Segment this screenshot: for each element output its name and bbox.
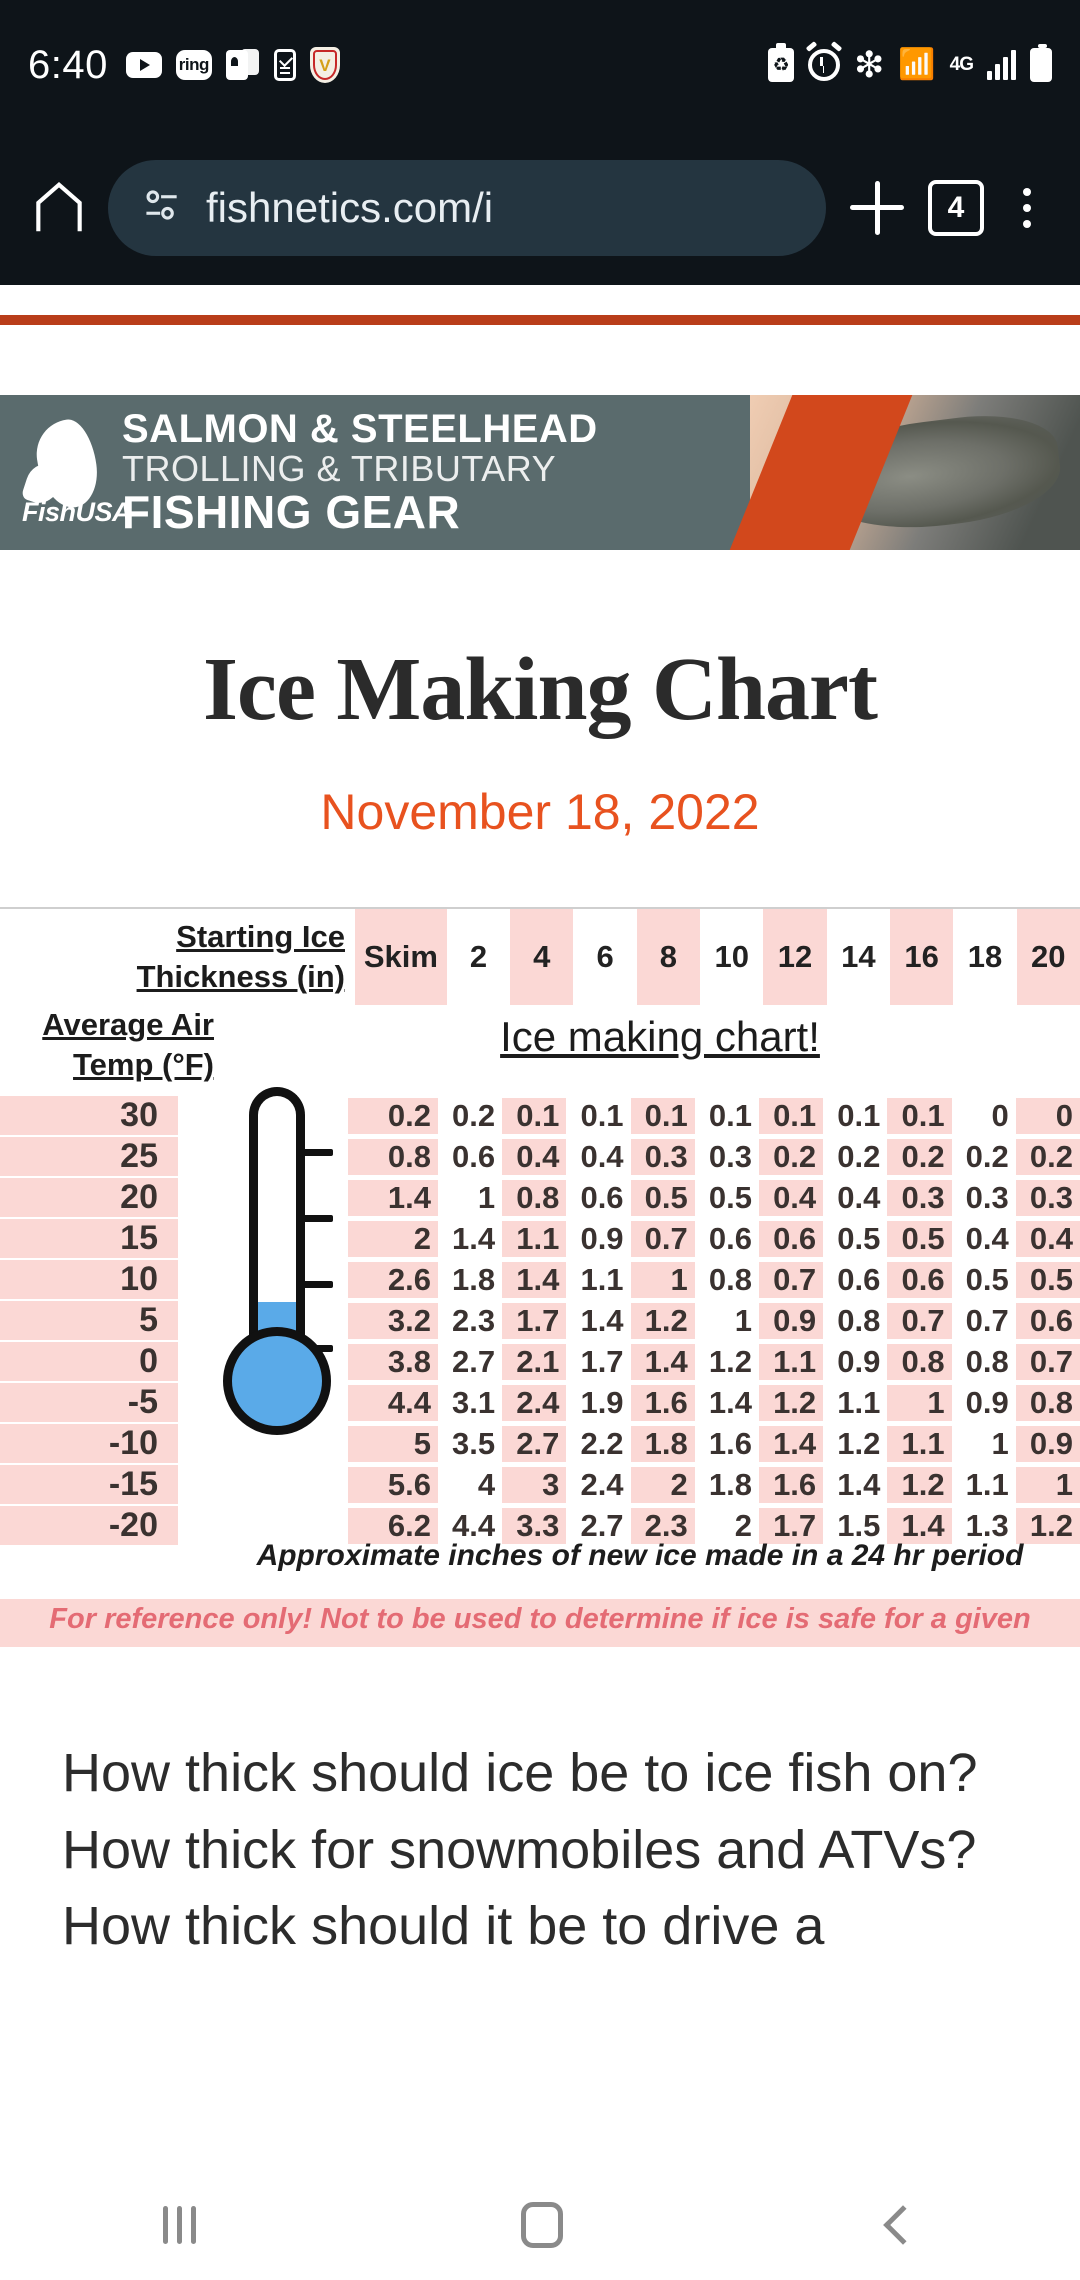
- chart-col-header: Skim: [355, 909, 447, 1005]
- chart-cell: 0.1: [502, 1098, 566, 1134]
- chart-cell: 2.1: [502, 1344, 566, 1380]
- chart-cell: 1.1: [502, 1221, 566, 1257]
- chart-cell: 0.5: [631, 1180, 695, 1216]
- chart-cell: 0.4: [823, 1180, 887, 1216]
- chart-cell: 2: [348, 1221, 438, 1257]
- chart-cell: 0.6: [566, 1180, 630, 1216]
- chart-row-label: -10: [0, 1424, 178, 1463]
- chart-cell: 1.4: [695, 1385, 759, 1421]
- page-accent-rule: [0, 315, 1080, 325]
- chart-footnote: Approximate inches of new ice made in a …: [0, 1539, 1080, 1573]
- chart-cell: 0.8: [952, 1344, 1016, 1380]
- chart-cell: 3.8: [348, 1344, 438, 1380]
- chart-cell: 1.4: [631, 1344, 695, 1380]
- chart-cell: 0.6: [695, 1221, 759, 1257]
- chart-cell: 0.8: [823, 1303, 887, 1339]
- chart-cell: 0.7: [952, 1303, 1016, 1339]
- chart-cell: 1.6: [695, 1426, 759, 1462]
- chart-cell: 2.6: [348, 1262, 438, 1298]
- table-row: 250.80.60.40.40.30.30.20.20.20.20.2: [0, 1136, 1080, 1177]
- chart-cell: 0.3: [887, 1180, 951, 1216]
- chart-cell: 0.8: [502, 1180, 566, 1216]
- chart-cell: 2.7: [438, 1344, 502, 1380]
- chart-cell: 0: [952, 1098, 1016, 1134]
- chart-cell: 0.1: [631, 1098, 695, 1134]
- solitaire-cards-icon: [226, 49, 260, 81]
- chart-cell: 1.8: [438, 1262, 502, 1298]
- chart-cell: 0.1: [759, 1098, 823, 1134]
- fishusa-ad-banner[interactable]: FishUSA SALMON & STEELHEAD TROLLING & TR…: [0, 395, 1080, 550]
- chart-cell: 0.3: [695, 1139, 759, 1175]
- chart-cell: 1.6: [759, 1467, 823, 1503]
- chart-row-label: 20: [0, 1178, 178, 1217]
- chart-cell: 1.2: [759, 1385, 823, 1421]
- chart-cell: 0.6: [438, 1139, 502, 1175]
- chart-cell: 4.4: [348, 1385, 438, 1421]
- chart-cell: 1: [438, 1180, 502, 1216]
- chart-cell: 0.3: [631, 1139, 695, 1175]
- signal-bars-icon: [987, 50, 1016, 80]
- table-row: 201.410.80.60.50.50.40.40.30.30.3: [0, 1177, 1080, 1218]
- phone-checklist-icon: [274, 49, 296, 81]
- chart-cell: 0: [1016, 1098, 1080, 1134]
- chart-cell: 5.6: [348, 1467, 438, 1503]
- chart-cell: 0.6: [1016, 1303, 1080, 1339]
- chart-cell: 3.5: [438, 1426, 502, 1462]
- chart-cell: 0.2: [1016, 1139, 1080, 1175]
- phone-screen: 6:40 ring V ❇ 📶 4G: [0, 0, 1080, 2280]
- chart-cell: 1.1: [566, 1262, 630, 1298]
- home-nav-icon[interactable]: [521, 2202, 563, 2248]
- chart-cell: 0.6: [759, 1221, 823, 1257]
- chart-cell: 0.6: [887, 1262, 951, 1298]
- chart-row-label: 25: [0, 1137, 178, 1176]
- chart-col-header: 20: [1017, 909, 1080, 1005]
- chart-cell: 0.5: [695, 1180, 759, 1216]
- chart-inner-title: Ice making chart!: [390, 1013, 930, 1061]
- chart-cell: 1.1: [823, 1385, 887, 1421]
- chart-cell: 2.3: [438, 1303, 502, 1339]
- row-header-line2: Temp (°F): [14, 1045, 214, 1085]
- recents-icon[interactable]: [163, 2206, 196, 2244]
- fish-icon: FishUSA: [20, 412, 110, 532]
- chart-cell: 1.4: [566, 1303, 630, 1339]
- vpn-shield-icon: V: [310, 47, 340, 83]
- status-system-icons: ❇ 📶 4G: [768, 48, 1052, 82]
- site-settings-icon[interactable]: [140, 183, 184, 232]
- chart-cell: 1: [1016, 1467, 1080, 1503]
- chart-cell: 0.2: [348, 1098, 438, 1134]
- chart-cell: 2.2: [566, 1426, 630, 1462]
- url-bar[interactable]: fishnetics.com/i: [108, 160, 826, 256]
- chart-cell: 2.7: [502, 1426, 566, 1462]
- table-row: -54.43.12.41.91.61.41.21.110.90.8: [0, 1382, 1080, 1423]
- col-header-line1: Starting Ice: [176, 917, 345, 957]
- chart-cell: 1.8: [695, 1467, 759, 1503]
- chart-cell: 2: [631, 1467, 695, 1503]
- chart-cell: 0.1: [823, 1098, 887, 1134]
- chart-cell: 3.2: [348, 1303, 438, 1339]
- chart-col-header: 16: [890, 909, 953, 1005]
- table-row: 53.22.31.71.41.210.90.80.70.70.6: [0, 1300, 1080, 1341]
- chart-cell: 0.9: [823, 1344, 887, 1380]
- chart-cell: 1: [887, 1385, 951, 1421]
- chart-cell: 1.2: [887, 1467, 951, 1503]
- chart-cell: 1.7: [502, 1303, 566, 1339]
- chart-col-header-label: Starting Ice Thickness (in): [0, 909, 355, 1005]
- youtube-icon: [126, 52, 162, 78]
- chart-cell: 0.7: [759, 1262, 823, 1298]
- chart-col-header: 8: [637, 909, 700, 1005]
- chart-cell: 0.4: [1016, 1221, 1080, 1257]
- chart-column-headers: Skim2468101214161820: [355, 909, 1080, 1005]
- alarm-icon: [808, 49, 840, 81]
- chart-col-header: 4: [510, 909, 573, 1005]
- home-icon[interactable]: [28, 177, 90, 239]
- chart-cell: 0.2: [952, 1139, 1016, 1175]
- chart-cell: 0.2: [438, 1098, 502, 1134]
- chart-cell: 0.5: [823, 1221, 887, 1257]
- ad-logo: FishUSA SALMON & STEELHEAD TROLLING & TR…: [0, 409, 598, 536]
- chart-cell: 0.9: [759, 1303, 823, 1339]
- chart-cell: 0.7: [1016, 1344, 1080, 1380]
- chart-cell: 0.2: [823, 1139, 887, 1175]
- chart-cell: 0.7: [887, 1303, 951, 1339]
- chart-disclaimer: For reference only! Not to be used to de…: [0, 1599, 1080, 1647]
- back-icon[interactable]: [883, 2205, 923, 2245]
- table-row: 300.20.20.10.10.10.10.10.10.100: [0, 1095, 1080, 1136]
- chart-cell: 1: [695, 1303, 759, 1339]
- chart-cell: 0.9: [952, 1385, 1016, 1421]
- chart-cell: 0.4: [952, 1221, 1016, 1257]
- chart-cell: 1.1: [952, 1467, 1016, 1503]
- chart-cell: 0.1: [887, 1098, 951, 1134]
- chart-row-label: 0: [0, 1342, 178, 1381]
- status-notification-icons: ring V: [126, 47, 340, 83]
- chart-cell: 0.3: [952, 1180, 1016, 1216]
- chart-cell: 1.4: [502, 1262, 566, 1298]
- tab-count-button[interactable]: 4: [928, 180, 984, 236]
- chart-footer: Approximate inches of new ice made in a …: [0, 1539, 1080, 1647]
- chart-row-label: -5: [0, 1383, 178, 1422]
- chart-col-header: 2: [447, 909, 510, 1005]
- chart-row-label: 5: [0, 1301, 178, 1340]
- chart-row-header-label: Average Air Temp (°F): [14, 1005, 214, 1086]
- chart-cell: 1: [952, 1426, 1016, 1462]
- chart-cell: 0.3: [1016, 1180, 1080, 1216]
- network-type-label: 4G: [950, 54, 973, 76]
- chart-cell: 1.4: [348, 1180, 438, 1216]
- browser-toolbar: fishnetics.com/i 4: [0, 130, 1080, 285]
- chart-header-row: Starting Ice Thickness (in) Skim24681012…: [0, 909, 1080, 1005]
- chart-cell: 2.4: [566, 1467, 630, 1503]
- chart-row-label: 30: [0, 1096, 178, 1135]
- chart-cell: 1.4: [438, 1221, 502, 1257]
- chart-cell: 0.8: [1016, 1385, 1080, 1421]
- battery-saver-icon: [768, 48, 794, 82]
- chart-cell: 1.1: [887, 1426, 951, 1462]
- chart-cell: 1.9: [566, 1385, 630, 1421]
- chart-cell: 1.4: [759, 1426, 823, 1462]
- chart-cell: 5: [348, 1426, 438, 1462]
- chart-cell: 0.1: [695, 1098, 759, 1134]
- chart-cell: 0.5: [887, 1221, 951, 1257]
- chart-col-header: 18: [953, 909, 1016, 1005]
- chart-cell: 0.6: [823, 1262, 887, 1298]
- chart-cell: 0.5: [1016, 1262, 1080, 1298]
- overflow-menu-icon[interactable]: [1002, 188, 1052, 228]
- chart-cell: 3.1: [438, 1385, 502, 1421]
- chart-cell: 2.4: [502, 1385, 566, 1421]
- chart-cell: 1.7: [566, 1344, 630, 1380]
- chart-cell: 0.8: [348, 1139, 438, 1175]
- chart-cell: 0.9: [566, 1221, 630, 1257]
- chart-data-rows: 300.20.20.10.10.10.10.10.10.100250.80.60…: [0, 1095, 1080, 1546]
- ad-text: SALMON & STEELHEAD TROLLING & TRIBUTARY …: [122, 409, 598, 536]
- battery-icon: [1030, 48, 1052, 82]
- wifi-icon: 📶: [898, 50, 935, 80]
- chart-row-label: 10: [0, 1260, 178, 1299]
- ice-making-chart: Starting Ice Thickness (in) Skim24681012…: [0, 907, 1080, 1647]
- status-clock: 6:40: [28, 43, 108, 88]
- chart-cell: 4: [438, 1467, 502, 1503]
- chart-col-header: 12: [763, 909, 826, 1005]
- chart-cell: 1.4: [823, 1467, 887, 1503]
- chart-cell: 1.2: [631, 1303, 695, 1339]
- chart-cell: 0.4: [566, 1139, 630, 1175]
- table-row: 1521.41.10.90.70.60.60.50.50.40.4: [0, 1218, 1080, 1259]
- table-row: -1053.52.72.21.81.61.41.21.110.9: [0, 1423, 1080, 1464]
- chart-col-header: 10: [700, 909, 763, 1005]
- chart-cell: 1.1: [759, 1344, 823, 1380]
- thermometer-icon: [215, 1087, 340, 1487]
- row-header-line1: Average Air: [14, 1005, 214, 1045]
- ring-icon: ring: [176, 50, 212, 80]
- chart-cell: 0.4: [759, 1180, 823, 1216]
- chart-cell: 0.1: [566, 1098, 630, 1134]
- chart-row-label: 15: [0, 1219, 178, 1258]
- ad-brand-label: FishUSA: [22, 497, 131, 528]
- chart-cell: 0.2: [759, 1139, 823, 1175]
- chart-cell: 0.8: [887, 1344, 951, 1380]
- chart-cell: 0.9: [1016, 1426, 1080, 1462]
- ad-line-2: TROLLING & TRIBUTARY: [122, 450, 598, 489]
- table-row: 03.82.72.11.71.41.21.10.90.80.80.7: [0, 1341, 1080, 1382]
- bluetooth-icon: ❇: [854, 51, 884, 80]
- chart-cell: 1.6: [631, 1385, 695, 1421]
- chart-cell: 3: [502, 1467, 566, 1503]
- page-title: Ice Making Chart: [0, 638, 1080, 741]
- chart-row-label: -15: [0, 1465, 178, 1504]
- ad-line-1: SALMON & STEELHEAD: [122, 409, 598, 450]
- url-text[interactable]: fishnetics.com/i: [206, 184, 493, 232]
- article-body: How thick should ice be to ice fish on? …: [0, 1735, 1080, 1965]
- chart-cell: 1.2: [823, 1426, 887, 1462]
- chart-cell: 1: [631, 1262, 695, 1298]
- plus-icon[interactable]: [844, 175, 910, 241]
- ad-line-3: FISHING GEAR: [122, 489, 598, 536]
- chart-col-header: 6: [573, 909, 636, 1005]
- chart-cell: 0.4: [502, 1139, 566, 1175]
- chart-col-header: 14: [827, 909, 890, 1005]
- system-nav-bar: [0, 2170, 1080, 2280]
- chart-cell: 1.2: [695, 1344, 759, 1380]
- chart-cell: 0.8: [695, 1262, 759, 1298]
- chart-cell: 0.7: [631, 1221, 695, 1257]
- article-date: November 18, 2022: [0, 783, 1080, 841]
- chart-cell: 1.8: [631, 1426, 695, 1462]
- status-bar: 6:40 ring V ❇ 📶 4G: [0, 0, 1080, 130]
- col-header-line2: Thickness (in): [137, 957, 345, 997]
- table-row: -155.6432.421.81.61.41.21.11: [0, 1464, 1080, 1505]
- chart-cell: 0.5: [952, 1262, 1016, 1298]
- table-row: 102.61.81.41.110.80.70.60.60.50.5: [0, 1259, 1080, 1300]
- chart-cell: 0.2: [887, 1139, 951, 1175]
